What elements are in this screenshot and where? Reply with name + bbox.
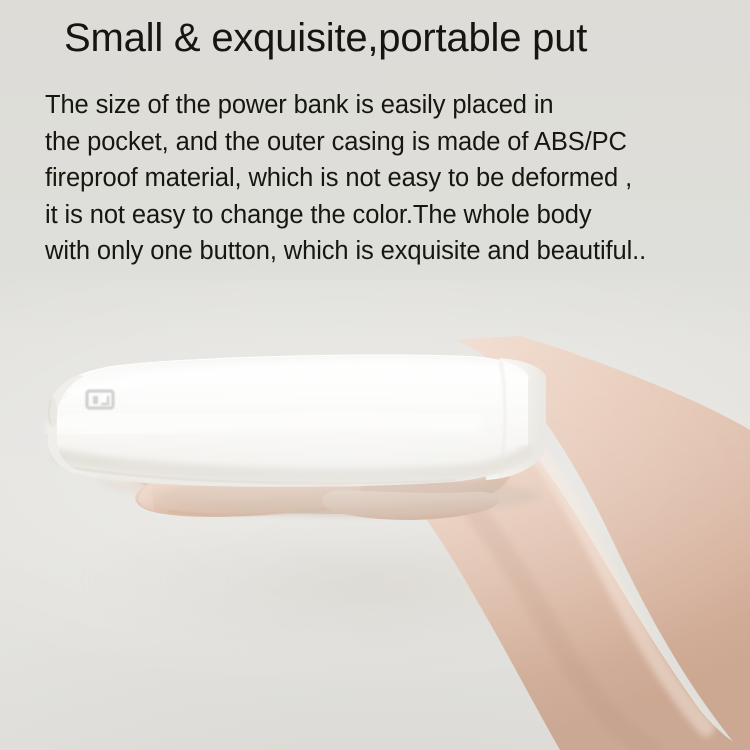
description-line: the pocket, and the outer casing is made… (45, 124, 745, 161)
product-photo (0, 280, 750, 750)
description-line: The size of the power bank is easily pla… (45, 87, 745, 124)
power-button (46, 398, 57, 428)
product-photo-illustration (0, 280, 750, 750)
description-paragraph: The size of the power bank is easily pla… (45, 87, 745, 270)
description-line: it is not easy to change the color.The w… (45, 197, 745, 234)
description-line: with only one button, which is exquisite… (45, 233, 745, 270)
product-banner: Small & exquisite,portable put The size … (0, 0, 750, 750)
description-line: fireproof material, which is not easy to… (45, 160, 745, 197)
page-title: Small & exquisite,portable put (64, 14, 587, 62)
